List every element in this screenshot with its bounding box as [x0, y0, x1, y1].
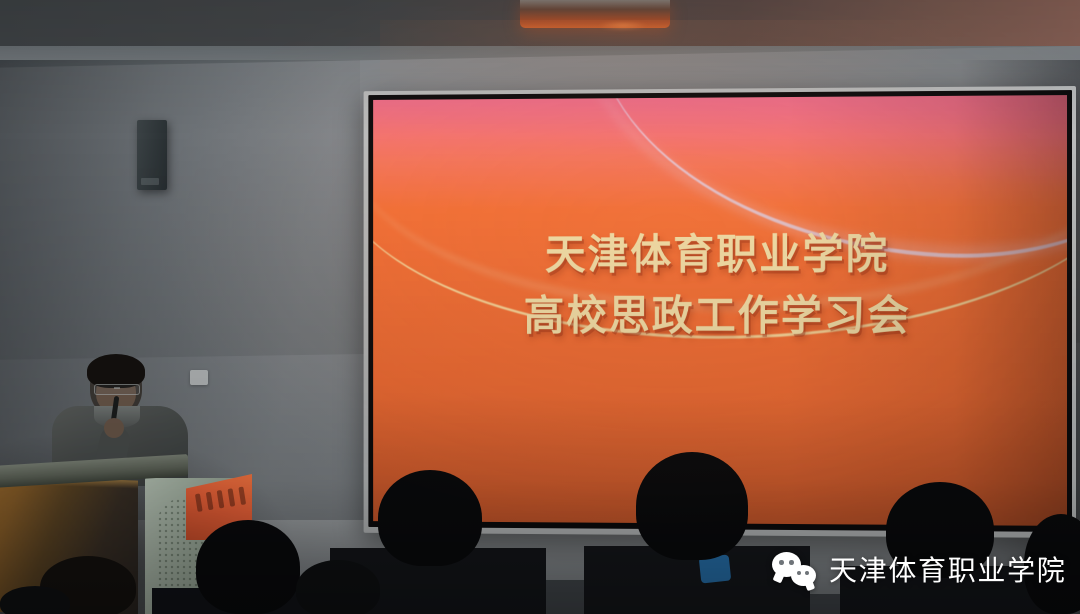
- wechat-account-name: 天津体育职业学院: [829, 549, 1066, 589]
- audience-member: [196, 520, 300, 614]
- ceiling-projector: [520, 0, 670, 28]
- audience-member: [636, 452, 748, 560]
- wechat-bubble-small: [791, 565, 816, 586]
- audience-member: [296, 560, 380, 614]
- wechat-watermark: 天津体育职业学院: [772, 548, 1066, 590]
- wall-speaker: [137, 120, 167, 190]
- presenter-hair: [87, 354, 145, 388]
- lecture-hall-photo: 天津体育职业学院 高校思政工作学习会: [0, 0, 1080, 614]
- wechat-icon: [772, 552, 816, 586]
- projector-lens: [600, 22, 646, 29]
- audience-member: [378, 470, 482, 566]
- audience-member: [0, 586, 70, 614]
- glasses-icon: [94, 384, 140, 395]
- presenter-hand: [104, 418, 124, 438]
